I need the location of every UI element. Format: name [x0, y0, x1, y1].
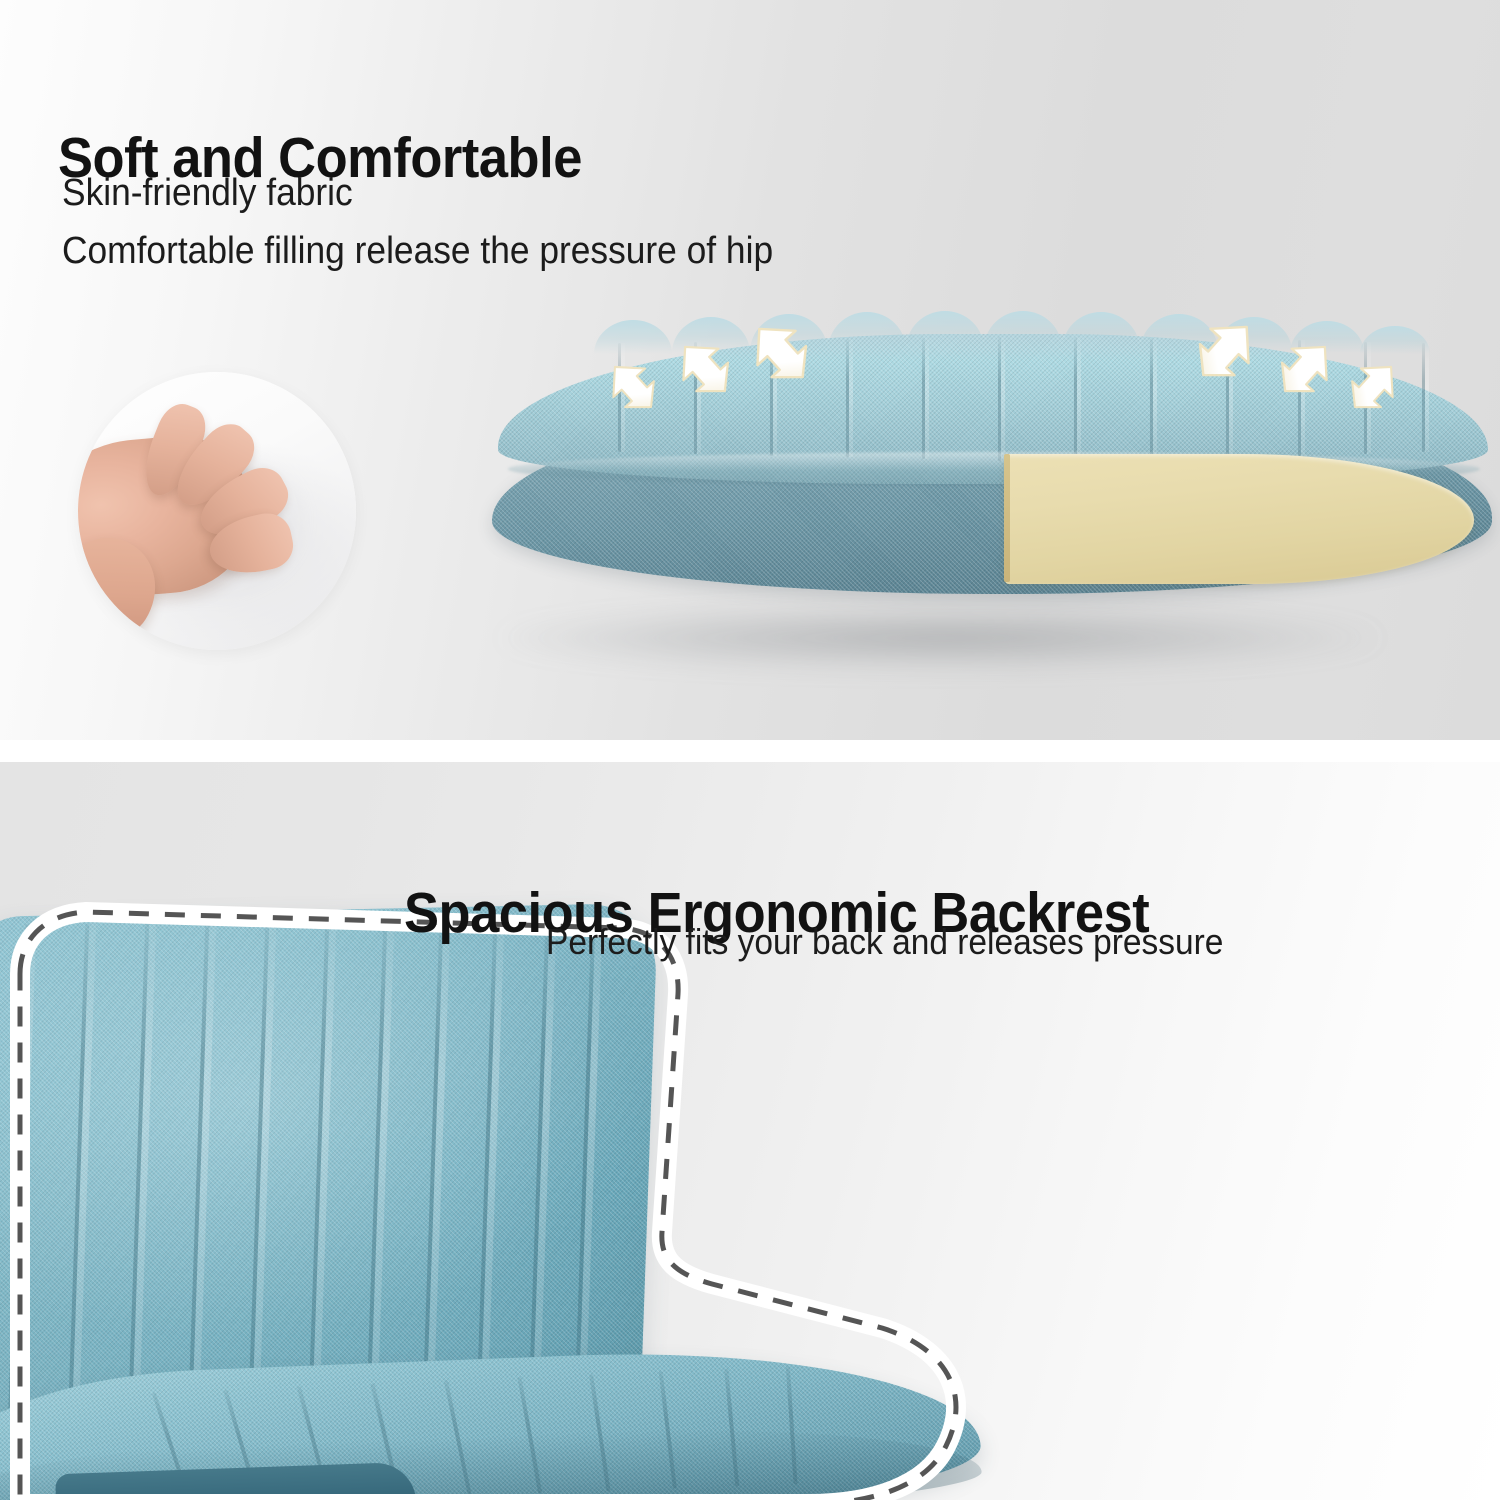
- hand-pressing-foam-inset: [78, 372, 356, 650]
- panel-soft-and-comfortable: Soft and Comfortable Skin-friendly fabri…: [0, 0, 1500, 740]
- chair-backrest-closeup: [0, 762, 1010, 1500]
- cushion-drop-shadow: [500, 608, 1380, 668]
- cushion-tuft-line: [1074, 337, 1077, 461]
- cushion-scallop: [984, 311, 1062, 349]
- foam-core-cut-edge: [1004, 454, 1010, 582]
- foam-core-cutaway: [1004, 454, 1474, 584]
- subtitle-comfortable-filling: Comfortable filling release the pressure…: [62, 228, 773, 274]
- cushion-tuft-line: [846, 339, 849, 457]
- product-infographic-page: Soft and Comfortable Skin-friendly fabri…: [0, 0, 1500, 1500]
- panel-divider: [0, 740, 1500, 762]
- cushion-tuft-line: [1422, 343, 1425, 452]
- cushion-scallop: [828, 312, 906, 350]
- cushion-scallop: [906, 311, 984, 349]
- cushion-tuft-line: [922, 338, 925, 459]
- cushion-tuft-line: [1150, 338, 1153, 459]
- subtitle-perfectly-fits-your-back: Perfectly fits your back and releases pr…: [546, 920, 1223, 964]
- cushion-tuft-line: [998, 337, 1001, 461]
- subtitle-skin-friendly-fabric: Skin-friendly fabric: [62, 170, 353, 216]
